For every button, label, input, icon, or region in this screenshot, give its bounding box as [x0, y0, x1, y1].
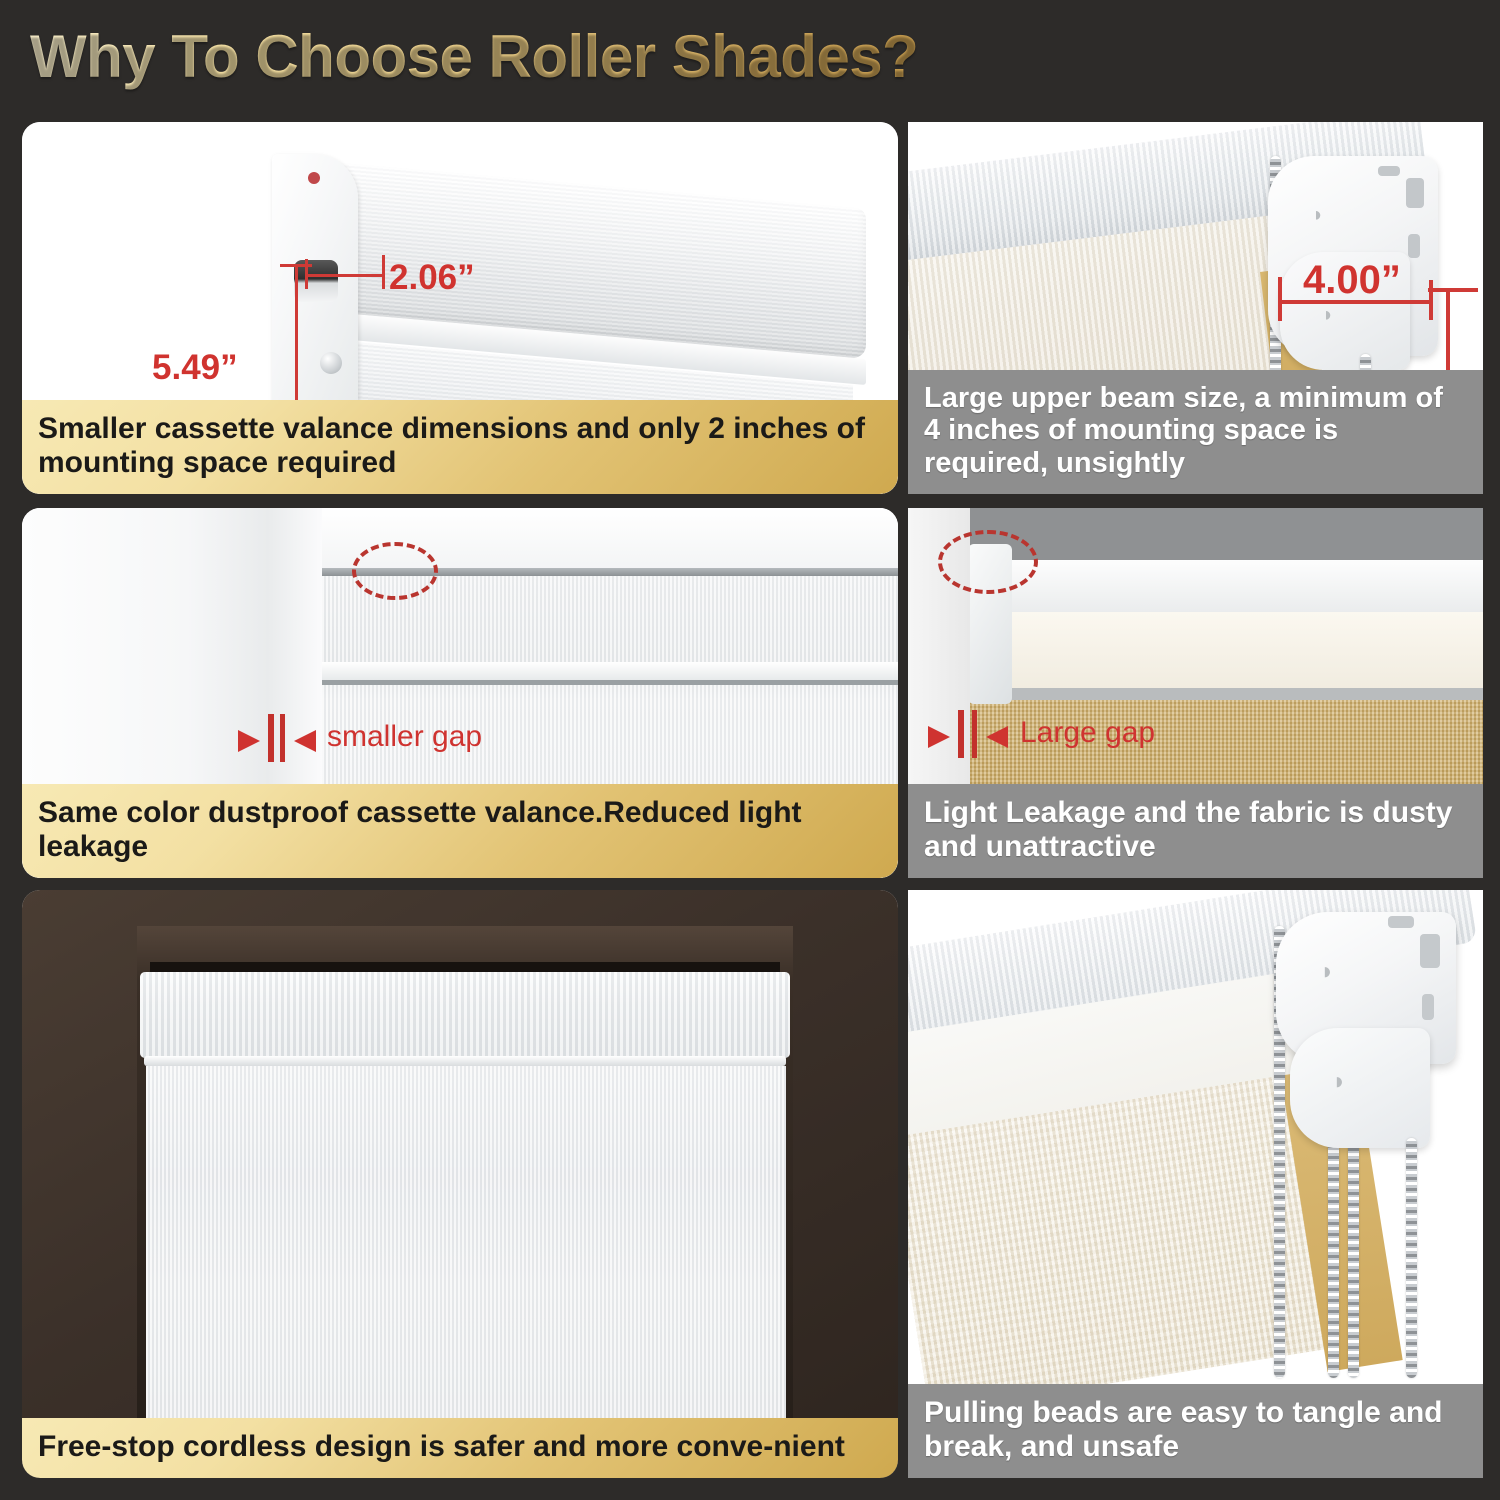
panel-5-caption: Free-stop cordless design is safer and m… — [22, 1418, 898, 1478]
gap-arrow-right — [238, 730, 260, 752]
height-dimension-label: 5.49” — [152, 348, 238, 388]
roller-shade-fabric — [146, 1066, 786, 1434]
room-window-shade-photo — [22, 890, 898, 1478]
panel-2-caption: Large upper beam size, a minimum of 4 in… — [908, 370, 1483, 494]
panel-6-caption: Pulling beads are easy to tangle and bre… — [908, 1384, 1483, 1478]
gap-arrow-left — [986, 726, 1008, 748]
width-dimension-label: 2.06” — [389, 258, 475, 298]
gap-arrow-right — [928, 726, 950, 748]
panel-3-caption: Same color dustproof cassette valance.Re… — [22, 784, 898, 878]
panel-4-caption: Light Leakage and the fabric is dusty an… — [908, 784, 1483, 878]
gap-highlight-ellipse — [352, 542, 438, 600]
bead-chain — [1406, 1138, 1417, 1378]
panel-large-beam: ◗ ◗ 4.00” 4.00” Large upper beam size, a… — [908, 122, 1483, 494]
page-title: Why To Choose Roller Shades? — [30, 22, 918, 91]
panel-large-gap: Large gap Light Leakage and the fabric i… — [908, 508, 1483, 878]
gap-highlight-ellipse — [938, 530, 1038, 594]
panel-smaller-cassette: 2.06” 5.49” Smaller cassette valance dim… — [22, 122, 898, 494]
panel-pulling-beads: ◗ ◗ Pulling beads are easy to tangle and… — [908, 890, 1483, 1478]
large-gap-label: Large gap — [1020, 716, 1155, 750]
panel-smaller-gap: smaller gap Same color dustproof cassett… — [22, 508, 898, 878]
width-dim-line — [305, 274, 385, 277]
smaller-gap-label: smaller gap — [327, 720, 482, 754]
beam-width-dimension-label: 4.00” — [1303, 258, 1401, 303]
cassette-valance — [140, 972, 790, 1058]
panel-cordless-design: Free-stop cordless design is safer and m… — [22, 890, 898, 1478]
infographic-page: Why To Choose Roller Shades? 2.06” — [0, 0, 1500, 1500]
gap-arrow-left — [294, 730, 316, 752]
panel-1-caption: Smaller cassette valance dimensions and … — [22, 400, 898, 494]
